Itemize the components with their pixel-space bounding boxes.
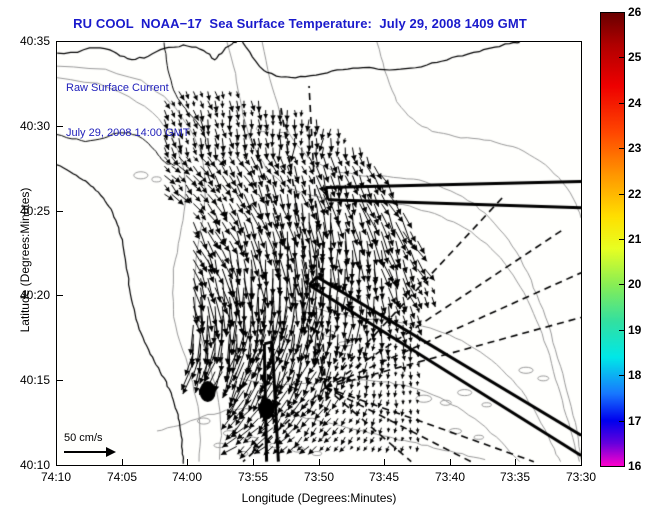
colorbar-tick-label: 26 xyxy=(628,5,641,19)
x-tick xyxy=(450,459,451,465)
colorbar-tick-label: 20 xyxy=(628,277,641,291)
map-canvas xyxy=(57,42,581,465)
colorbar-tick xyxy=(619,466,624,467)
x-tick-label: 73:55 xyxy=(238,470,268,484)
colorbar-tick xyxy=(619,148,624,149)
x-tick-label: 73:45 xyxy=(369,470,399,484)
colorbar-tick xyxy=(619,330,624,331)
y-axis-title: Latitude (Degrees:Minutes) xyxy=(18,130,32,390)
x-tick xyxy=(581,459,582,465)
x-tick-label: 73:30 xyxy=(566,470,596,484)
colorbar-tick-label: 18 xyxy=(628,368,641,382)
x-tick-label: 74:00 xyxy=(172,470,202,484)
y-tick xyxy=(57,380,63,381)
sst-figure: RU COOL NOAA−17 Sea Surface Temperature:… xyxy=(0,0,651,518)
colorbar-tick-label: 21 xyxy=(628,232,641,246)
colorbar-tick xyxy=(619,57,624,58)
x-tick-label: 73:35 xyxy=(500,470,530,484)
y-tick-label: 40:10 xyxy=(2,458,50,472)
colorbar-tick-label: 24 xyxy=(628,96,641,110)
x-tick xyxy=(319,459,320,465)
x-tick xyxy=(253,459,254,465)
y-tick xyxy=(57,211,63,212)
page-title: RU COOL NOAA−17 Sea Surface Temperature:… xyxy=(0,16,600,31)
x-tick-label: 74:05 xyxy=(107,470,137,484)
y-tick xyxy=(57,41,63,42)
y-tick xyxy=(57,295,63,296)
y-tick xyxy=(57,126,63,127)
colorbar-tick-label: 16 xyxy=(628,459,641,473)
colorbar-tick xyxy=(619,284,624,285)
colorbar-tick-label: 22 xyxy=(628,187,641,201)
x-tick-label: 73:40 xyxy=(435,470,465,484)
colorbar-tick-label: 17 xyxy=(628,414,641,428)
x-axis-title: Longitude (Degrees:Minutes) xyxy=(56,491,582,505)
x-tick xyxy=(384,459,385,465)
x-tick-label: 74:10 xyxy=(41,470,71,484)
colorbar-tick xyxy=(619,239,624,240)
x-tick xyxy=(122,459,123,465)
colorbar-tick xyxy=(619,375,624,376)
colorbar-tick-label: 19 xyxy=(628,323,641,337)
colorbar-tick xyxy=(619,12,624,13)
colorbar-tick xyxy=(619,421,624,422)
y-tick-label: 40:35 xyxy=(2,34,50,48)
colorbar-tick-label: 25 xyxy=(628,50,641,64)
colorbar-tick xyxy=(619,103,624,104)
x-tick-label: 73:50 xyxy=(304,470,334,484)
x-tick xyxy=(187,459,188,465)
x-tick xyxy=(515,459,516,465)
y-tick xyxy=(57,465,63,466)
map-plot-area[interactable] xyxy=(56,41,582,466)
colorbar-tick-label: 23 xyxy=(628,141,641,155)
colorbar-tick xyxy=(619,194,624,195)
